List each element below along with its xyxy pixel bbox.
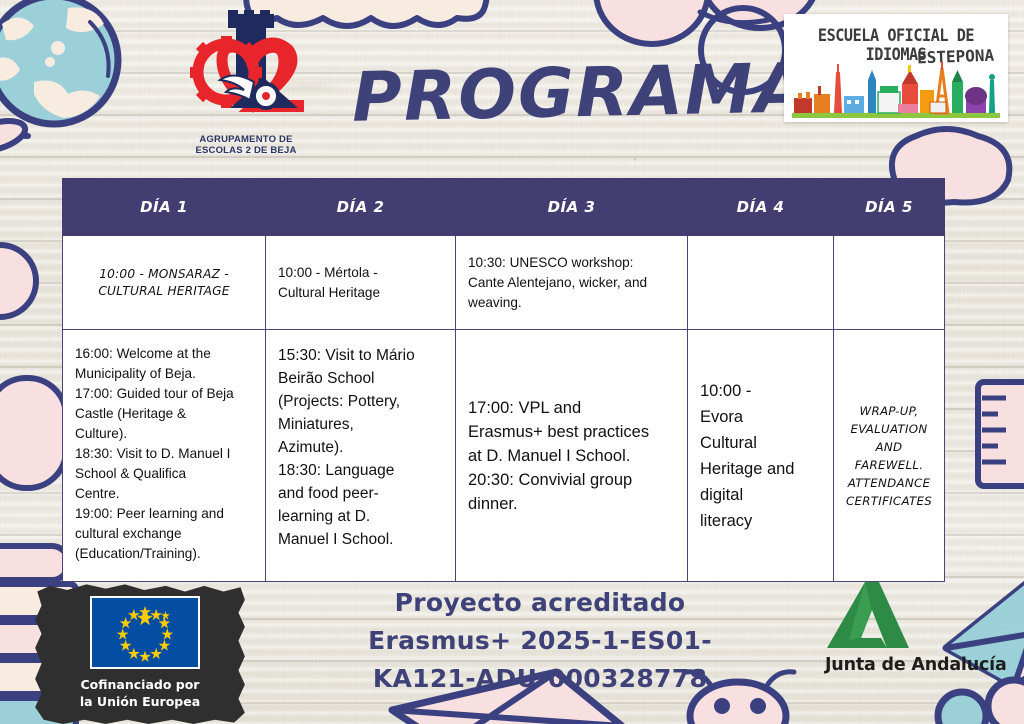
page-title: PROGRAMA: [351, 49, 810, 138]
header-dia-5: DÍA 5: [834, 179, 945, 236]
ruler-doodle: [972, 378, 1024, 498]
cell-line: Culture).: [75, 424, 253, 444]
cell-line: Evora: [700, 404, 821, 430]
agrupamento-logo-caption: AGRUPAMENTO DE ESCOLAS 2 DE BEJA: [178, 134, 314, 156]
cell-day1-afternoon: 16:00: Welcome at the Municipality of Be…: [63, 330, 266, 582]
eu-logo-caption: Cofinanciado por la Unión Europea: [33, 676, 247, 710]
table-row: 16:00: Welcome at the Municipality of Be…: [63, 330, 945, 582]
cell-line: 20:30: Convivial group: [468, 468, 675, 492]
cell-line: Cante Alentejano, wicker, and: [468, 273, 675, 293]
cell-line: WRAP-UP,: [846, 402, 932, 420]
cell-line: and food peer-: [278, 482, 443, 505]
cell-line: AND: [846, 438, 932, 456]
cell-line: Manuel I School.: [278, 528, 443, 551]
scribble-doodle: [936, 680, 1024, 724]
cell-line: FAREWELL.: [846, 456, 932, 474]
cell-line: Heritage and: [700, 456, 821, 482]
cell-day2-morning: 10:00 - Mértola - Cultural Heritage: [266, 236, 456, 330]
accreditation-line2: Erasmus+ 2025-1-ES01-: [330, 622, 750, 660]
cell-line: Municipality of Beja.: [75, 364, 253, 384]
header-dia-1: DÍA 1: [63, 179, 266, 236]
cell-line: at D. Manuel I School.: [468, 444, 675, 468]
table-header-row: DÍA 1 DÍA 2 DÍA 3 DÍA 4 DÍA 5: [63, 179, 945, 236]
cell-line: 19:00: Peer learning and: [75, 504, 253, 524]
program-poster: AGRUPAMENTO DE ESCOLAS 2 DE BEJA PROGRAM…: [0, 0, 1024, 724]
cell-line: 15:30: Visit to Mário: [278, 344, 443, 367]
cell-day2-afternoon: 15:30: Visit to Mário Beirão School (Pro…: [266, 330, 456, 582]
cell-line: digital: [700, 482, 821, 508]
eu-flag: [90, 596, 200, 669]
cell-line: ATTENDANCE: [846, 474, 932, 492]
cell-line: 17:00: Guided tour of Beja: [75, 384, 253, 404]
eu-caption-line1: Cofinanciado por: [33, 676, 247, 693]
eoi-skyline-illustration: [792, 62, 1000, 118]
cell-day4-morning-empty: [688, 236, 834, 330]
cell-line: Cultural: [700, 430, 821, 456]
cell-line: EVALUATION: [846, 420, 932, 438]
junta-de-andalucia-logo: Junta de Andalucía: [825, 580, 1024, 685]
cell-line: Centre.: [75, 484, 253, 504]
agrupamento-caption-line1: AGRUPAMENTO DE: [178, 134, 314, 145]
cell-line: 10:00 - Mértola -: [278, 263, 443, 283]
accreditation-line1: Proyecto acreditado: [330, 584, 750, 622]
globe-doodle: [0, 0, 162, 165]
cell-line: weaving.: [468, 293, 675, 313]
cell-line: Miniatures,: [278, 413, 443, 436]
cell-day1-morning: 10:00 - MONSARAZ - CULTURAL HERITAGE: [63, 236, 266, 330]
cell-line: cultural exchange: [75, 524, 253, 544]
header-dia-4: DÍA 4: [688, 179, 834, 236]
header-dia-3: DÍA 3: [456, 179, 688, 236]
eoi-estepona-logo: ESCUELA OFICIAL DE IDIOMAS ESTEPONA: [784, 14, 1008, 122]
cell-line: Castle (Heritage &: [75, 404, 253, 424]
cell-line: 10:30: UNESCO workshop:: [468, 253, 675, 273]
cell-day5-morning-empty: [834, 236, 945, 330]
accreditation-line3: KA121-ADU-000328778: [330, 660, 750, 698]
cell-line: CERTIFICATES: [846, 492, 932, 510]
junta-a-mark: [825, 580, 911, 652]
cell-line: (Projects: Pottery,: [278, 390, 443, 413]
cell-line: CULTURAL HERITAGE: [75, 283, 253, 300]
header-dia-2: DÍA 2: [266, 179, 456, 236]
cell-line: dinner.: [468, 492, 675, 516]
cell-line: (Education/Training).: [75, 544, 253, 564]
cell-line: 16:00: Welcome at the: [75, 344, 253, 364]
eu-cofunded-logo: Cofinanciado por la Unión Europea: [33, 583, 247, 724]
cell-day5-afternoon: WRAP-UP, EVALUATION AND FAREWELL. ATTEND…: [834, 330, 945, 582]
cell-day3-afternoon: 17:00: VPL and Erasmus+ best practices a…: [456, 330, 688, 582]
cell-line: learning at D.: [278, 505, 443, 528]
cell-line: 18:30: Visit to D. Manuel I: [75, 444, 253, 464]
eu-caption-line2: la Unión Europea: [33, 693, 247, 710]
cell-line: Erasmus+ best practices: [468, 420, 675, 444]
cell-line: Beirão School: [278, 367, 443, 390]
cell-line: literacy: [700, 508, 821, 534]
agrupamento-caption-line2: ESCOLAS 2 DE BEJA: [178, 145, 314, 156]
junta-logo-caption: Junta de Andalucía: [825, 655, 1024, 675]
pink-circle-doodle-bottom-left: [0, 236, 56, 326]
cell-day4-afternoon: 10:00 - Evora Cultural Heritage and digi…: [688, 330, 834, 582]
cell-line: School & Qualifica: [75, 464, 253, 484]
cell-line: 10:00 -: [700, 378, 821, 404]
cell-line: Cultural Heritage: [278, 283, 443, 303]
cell-line: 17:00: VPL and: [468, 396, 675, 420]
program-table: DÍA 1 DÍA 2 DÍA 3 DÍA 4 DÍA 5 10:00 - MO…: [62, 178, 945, 582]
cell-line: Azimute).: [278, 436, 443, 459]
cell-day3-morning: 10:30: UNESCO workshop: Cante Alentejano…: [456, 236, 688, 330]
cell-line: 18:30: Language: [278, 459, 443, 482]
table-row: 10:00 - MONSARAZ - CULTURAL HERITAGE 10:…: [63, 236, 945, 330]
accreditation-text: Proyecto acreditado Erasmus+ 2025-1-ES01…: [330, 584, 750, 698]
cell-line: 10:00 - MONSARAZ -: [75, 266, 253, 283]
